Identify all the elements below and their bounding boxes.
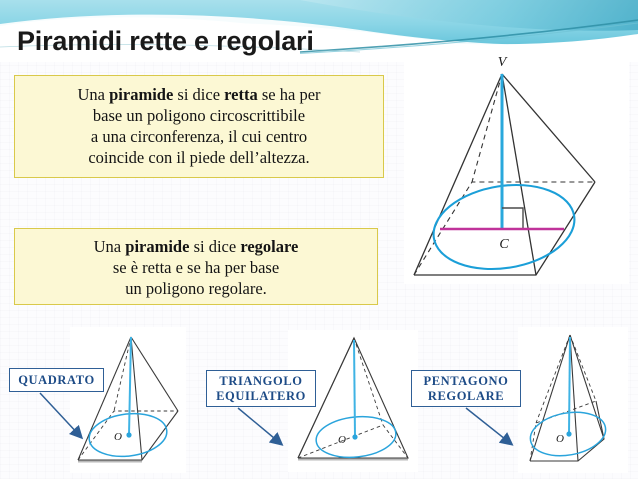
center-label-C: C [499,237,509,252]
definition-line: un poligono regolare. [15,278,377,299]
callout-label-line1: TRIANGOLO [216,374,306,389]
callout-pentagono-regolare: PENTAGONO REGOLARE [411,370,521,407]
main-pyramid-panel: V C [404,52,629,284]
definition-line: se è retta e se ha per base [15,257,377,278]
square-base-pyramid-figure: O [70,327,186,473]
definition-line: a una circonferenza, il cui centro [15,126,383,147]
callout-quadrato: QUADRATO [9,368,104,392]
definition-box-regolare: Una piramide si dice regolare se è retta… [14,228,378,305]
pentagon-base-pyramid-figure: O [518,327,628,473]
square-base-pyramid-panel: O [70,327,186,473]
arrow-triangolo [238,408,280,443]
slide-title: Piramidi rette e regolari [17,26,314,57]
definition-box-retta: Una piramide si dice retta se ha per bas… [14,75,384,178]
vertex-label-V: V [498,55,508,70]
callout-triangolo-equilatero: TRIANGOLO EQUILATERO [206,370,316,407]
center-label-O: O [114,431,122,443]
arrow-pentagono [466,408,510,443]
callout-label: QUADRATO [18,373,95,388]
definition-line: Una piramide si dice regolare [15,236,377,257]
definition-line: base un poligono circoscrittibile [15,105,383,126]
center-label-O: O [338,434,346,446]
center-label-O: O [556,433,564,445]
slide-canvas: Piramidi rette e regolari Una piramide s… [0,0,638,479]
definition-line: Una piramide si dice retta se ha per [15,84,383,105]
callout-label-line2: EQUILATERO [216,389,306,404]
pentagon-base-pyramid-panel: O [518,327,628,473]
definition-line: coincide con il piede dell’altezza. [15,147,383,168]
callout-label-line1: PENTAGONO [423,374,508,389]
callout-label-line2: REGOLARE [423,389,508,404]
right-pyramid-figure: V C [404,52,629,284]
